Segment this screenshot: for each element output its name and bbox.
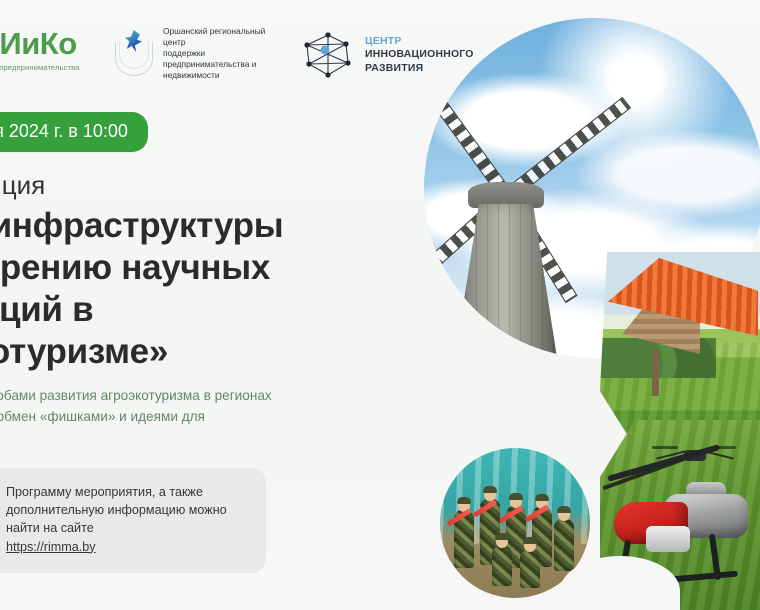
subtitle-line: кации. <box>0 427 272 448</box>
logo-innovation-center[interactable]: ЦЕНТР ИННОВАЦИОННОГО РАЗВИТИЯ <box>302 30 474 80</box>
page-title: ль инфраструктуры недрению научных оваци… <box>0 205 283 373</box>
conference-poster: ЛРИиКо поддержки предпринимательства Орш… <box>0 0 760 610</box>
network-polygon-icon <box>302 30 354 80</box>
house-post <box>652 350 659 396</box>
logo-orsha-line: предпринимательства и <box>163 59 265 70</box>
subtitle-line: еларуси, обмен «фишками» и идеями для <box>0 406 272 427</box>
logo-cir-line: ИННОВАЦИОННОГО <box>365 48 474 61</box>
headline-line: ль инфраструктуры <box>0 205 283 247</box>
logo-orsha-center[interactable]: Оршанский региональный центр поддержки п… <box>112 26 265 81</box>
logo-orsha-text: Оршанский региональный центр поддержки п… <box>163 26 265 81</box>
drone-tank <box>646 526 690 552</box>
logo-cir-line: ЦЕНТР <box>365 35 474 48</box>
headline-line: оваций в <box>0 289 283 331</box>
headline-line: э코отуризме» <box>0 331 283 373</box>
farmhouse <box>608 258 758 376</box>
headline-kicker: еренция <box>0 170 45 201</box>
kid-figure <box>492 546 512 586</box>
logo-orsha-line: центр <box>163 37 265 48</box>
logo-cir-text: ЦЕНТР ИННОВАЦИОННОГО РАЗВИТИЯ <box>365 35 474 75</box>
kid-figure <box>554 519 574 571</box>
subtitle-line: о со способами развития агроэкотуризма в… <box>0 385 272 406</box>
logo-lrik-tagline: поддержки предпринимательства <box>0 63 79 72</box>
website-link[interactable]: https://rimma.by <box>6 540 96 554</box>
logo-orsha-line: поддержки <box>163 48 265 59</box>
hummingbird-in-hands-icon <box>112 26 154 76</box>
subtitle: о со способами развития агроэкотуризма в… <box>0 385 272 448</box>
logo-cir-line: РАЗВИТИЯ <box>365 62 474 75</box>
logo-orsha-line: недвижимости <box>163 70 265 81</box>
info-line: Программу мероприятия, а также <box>6 484 248 502</box>
logo-orsha-line: Оршанский региональный <box>163 26 265 37</box>
logo-lrik[interactable]: ЛРИиКо поддержки предпринимательства <box>0 22 79 78</box>
kid-figure <box>520 550 540 588</box>
date-badge: бря 2024 г. в 10:00 <box>0 112 148 152</box>
logo-lrik-wordmark: ЛРИиКо <box>0 28 79 59</box>
headline-line: недрению научных <box>0 247 283 289</box>
info-box: Программу мероприятия, а также дополните… <box>0 468 266 573</box>
info-line: дополнительную информацию можно <box>6 502 248 520</box>
info-line: найти на сайте <box>6 520 248 538</box>
